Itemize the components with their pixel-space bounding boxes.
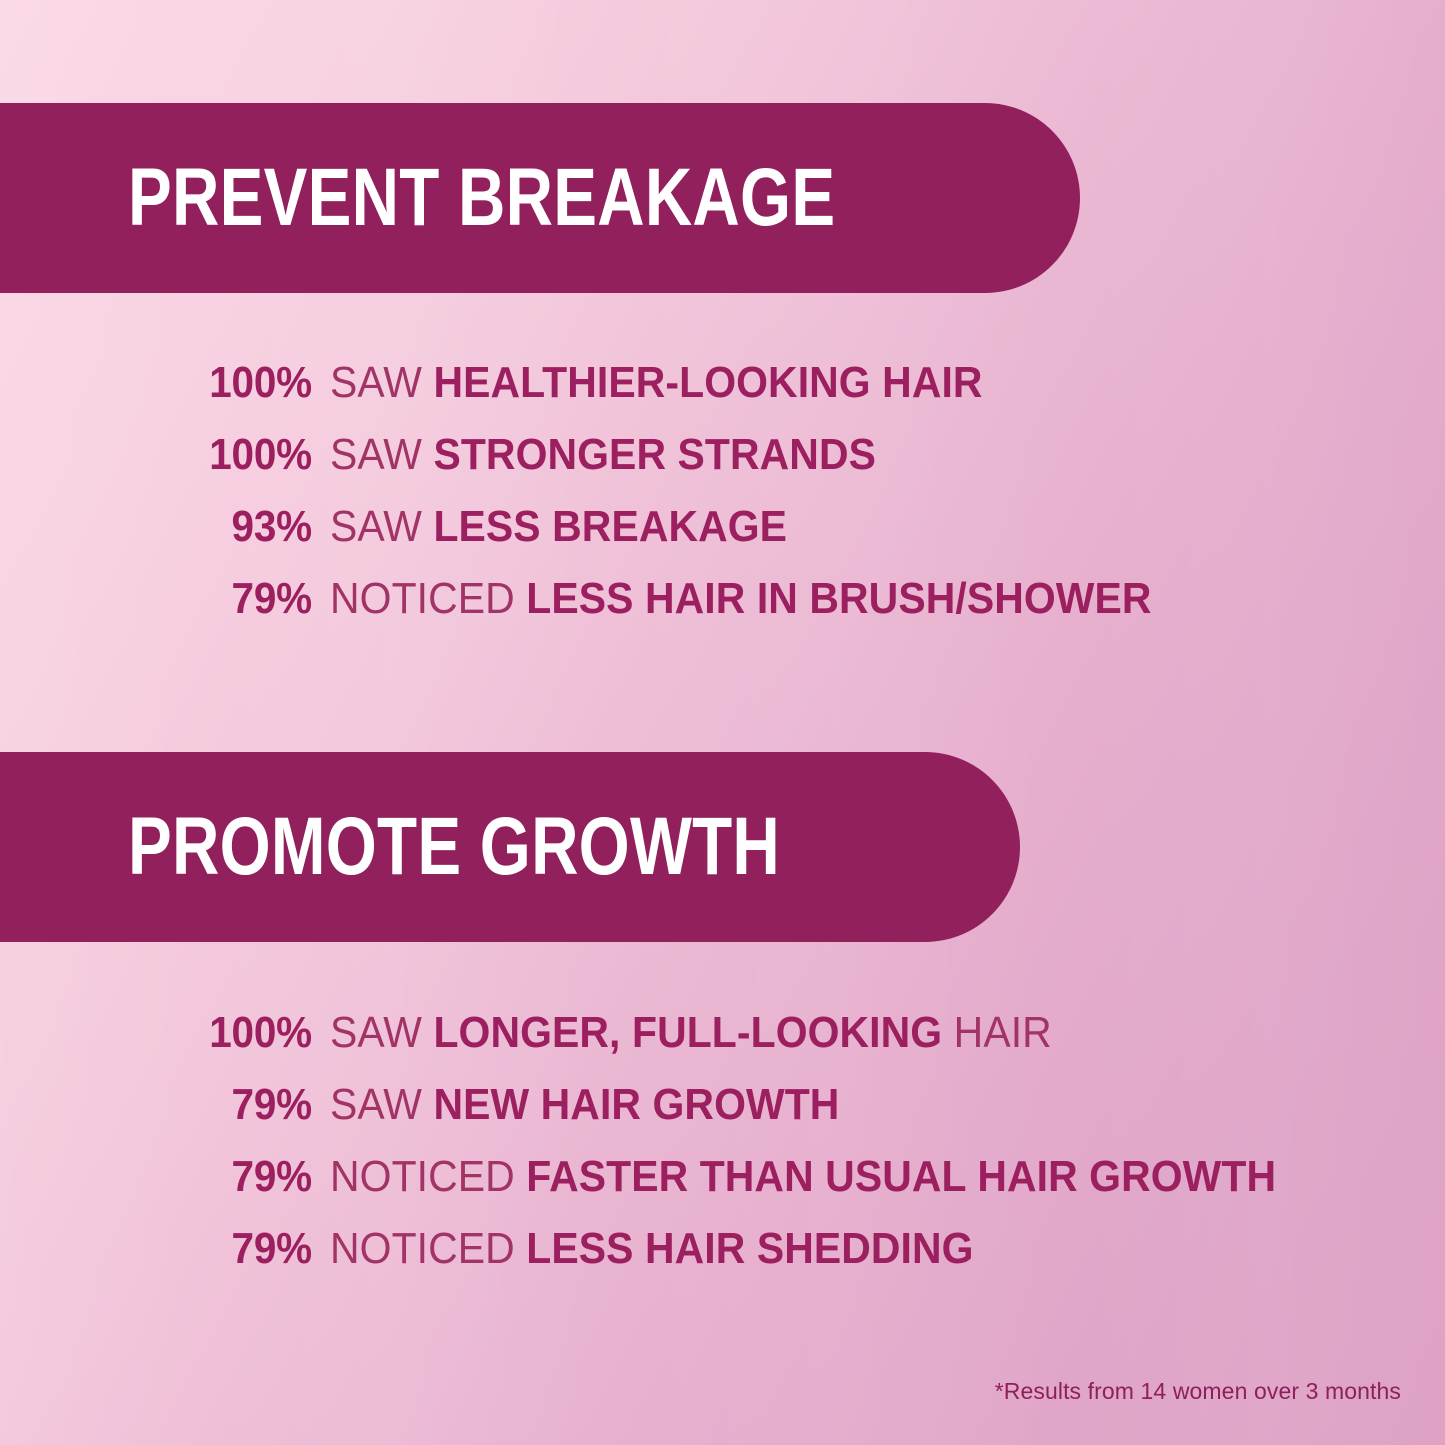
stat-verb: NOTICED [330,1224,515,1273]
stat-percentage: 79% [25,1224,312,1274]
section-banner-promote-growth: PROMOTE GROWTH [0,752,1020,942]
stat-highlight: STRONGER STRANDS [433,430,876,479]
stat-percentage: 79% [25,574,312,624]
stat-row: 79% NOTICED FASTER THAN USUAL HAIR GROWT… [0,1152,1445,1224]
banner-title-promote-growth: PROMOTE GROWTH [128,806,780,888]
stat-verb: SAW [330,1008,422,1057]
banner-title-prevent-breakage: PREVENT BREAKAGE [128,157,835,239]
stat-verb: SAW [330,1080,422,1129]
stat-claim: SAW LESS BREAKAGE [330,502,787,552]
stat-claim: SAW STRONGER STRANDS [330,430,876,480]
stat-highlight: NEW HAIR GROWTH [433,1080,839,1129]
stat-row: 100% SAW STRONGER STRANDS [0,430,1445,502]
stat-percentage: 100% [25,430,312,480]
stat-percentage: 100% [25,1008,312,1058]
stats-list-promote-growth: 100% SAW LONGER, FULL-LOOKING HAIR 79% S… [0,1008,1445,1296]
stat-verb: NOTICED [330,1152,515,1201]
stat-row: 79% NOTICED LESS HAIR SHEDDING [0,1224,1445,1296]
stat-tail: HAIR [954,1008,1052,1057]
stat-verb: SAW [330,358,422,407]
stat-row: 100% SAW HEALTHIER-LOOKING HAIR [0,358,1445,430]
stat-verb: SAW [330,430,422,479]
stat-row: 93% SAW LESS BREAKAGE [0,502,1445,574]
stat-percentage: 93% [25,502,312,552]
stat-claim: SAW LONGER, FULL-LOOKING HAIR [330,1008,1052,1058]
stat-highlight: FASTER THAN USUAL HAIR GROWTH [526,1152,1276,1201]
stat-row: 79% NOTICED LESS HAIR IN BRUSH/SHOWER [0,574,1445,646]
stat-row: 79% SAW NEW HAIR GROWTH [0,1080,1445,1152]
stat-verb: SAW [330,502,422,551]
stat-claim: NOTICED FASTER THAN USUAL HAIR GROWTH [330,1152,1276,1202]
stat-claim: SAW HEALTHIER-LOOKING HAIR [330,358,983,408]
section-banner-prevent-breakage: PREVENT BREAKAGE [0,103,1080,293]
stat-percentage: 79% [25,1080,312,1130]
stat-verb: NOTICED [330,574,515,623]
stat-highlight: LESS BREAKAGE [433,502,787,551]
stat-highlight: LESS HAIR IN BRUSH/SHOWER [526,574,1151,623]
stat-highlight: LONGER, FULL-LOOKING [433,1008,942,1057]
results-infographic: PREVENT BREAKAGE 100% SAW HEALTHIER-LOOK… [0,0,1445,1445]
stat-percentage: 79% [25,1152,312,1202]
stat-claim: NOTICED LESS HAIR SHEDDING [330,1224,974,1274]
stat-highlight: LESS HAIR SHEDDING [526,1224,973,1273]
stat-row: 100% SAW LONGER, FULL-LOOKING HAIR [0,1008,1445,1080]
stat-percentage: 100% [25,358,312,408]
stat-claim: NOTICED LESS HAIR IN BRUSH/SHOWER [330,574,1152,624]
stat-highlight: HEALTHIER-LOOKING HAIR [433,358,982,407]
stat-claim: SAW NEW HAIR GROWTH [330,1080,839,1130]
footnote-disclaimer: *Results from 14 women over 3 months [995,1378,1401,1405]
stats-list-prevent-breakage: 100% SAW HEALTHIER-LOOKING HAIR 100% SAW… [0,358,1445,646]
